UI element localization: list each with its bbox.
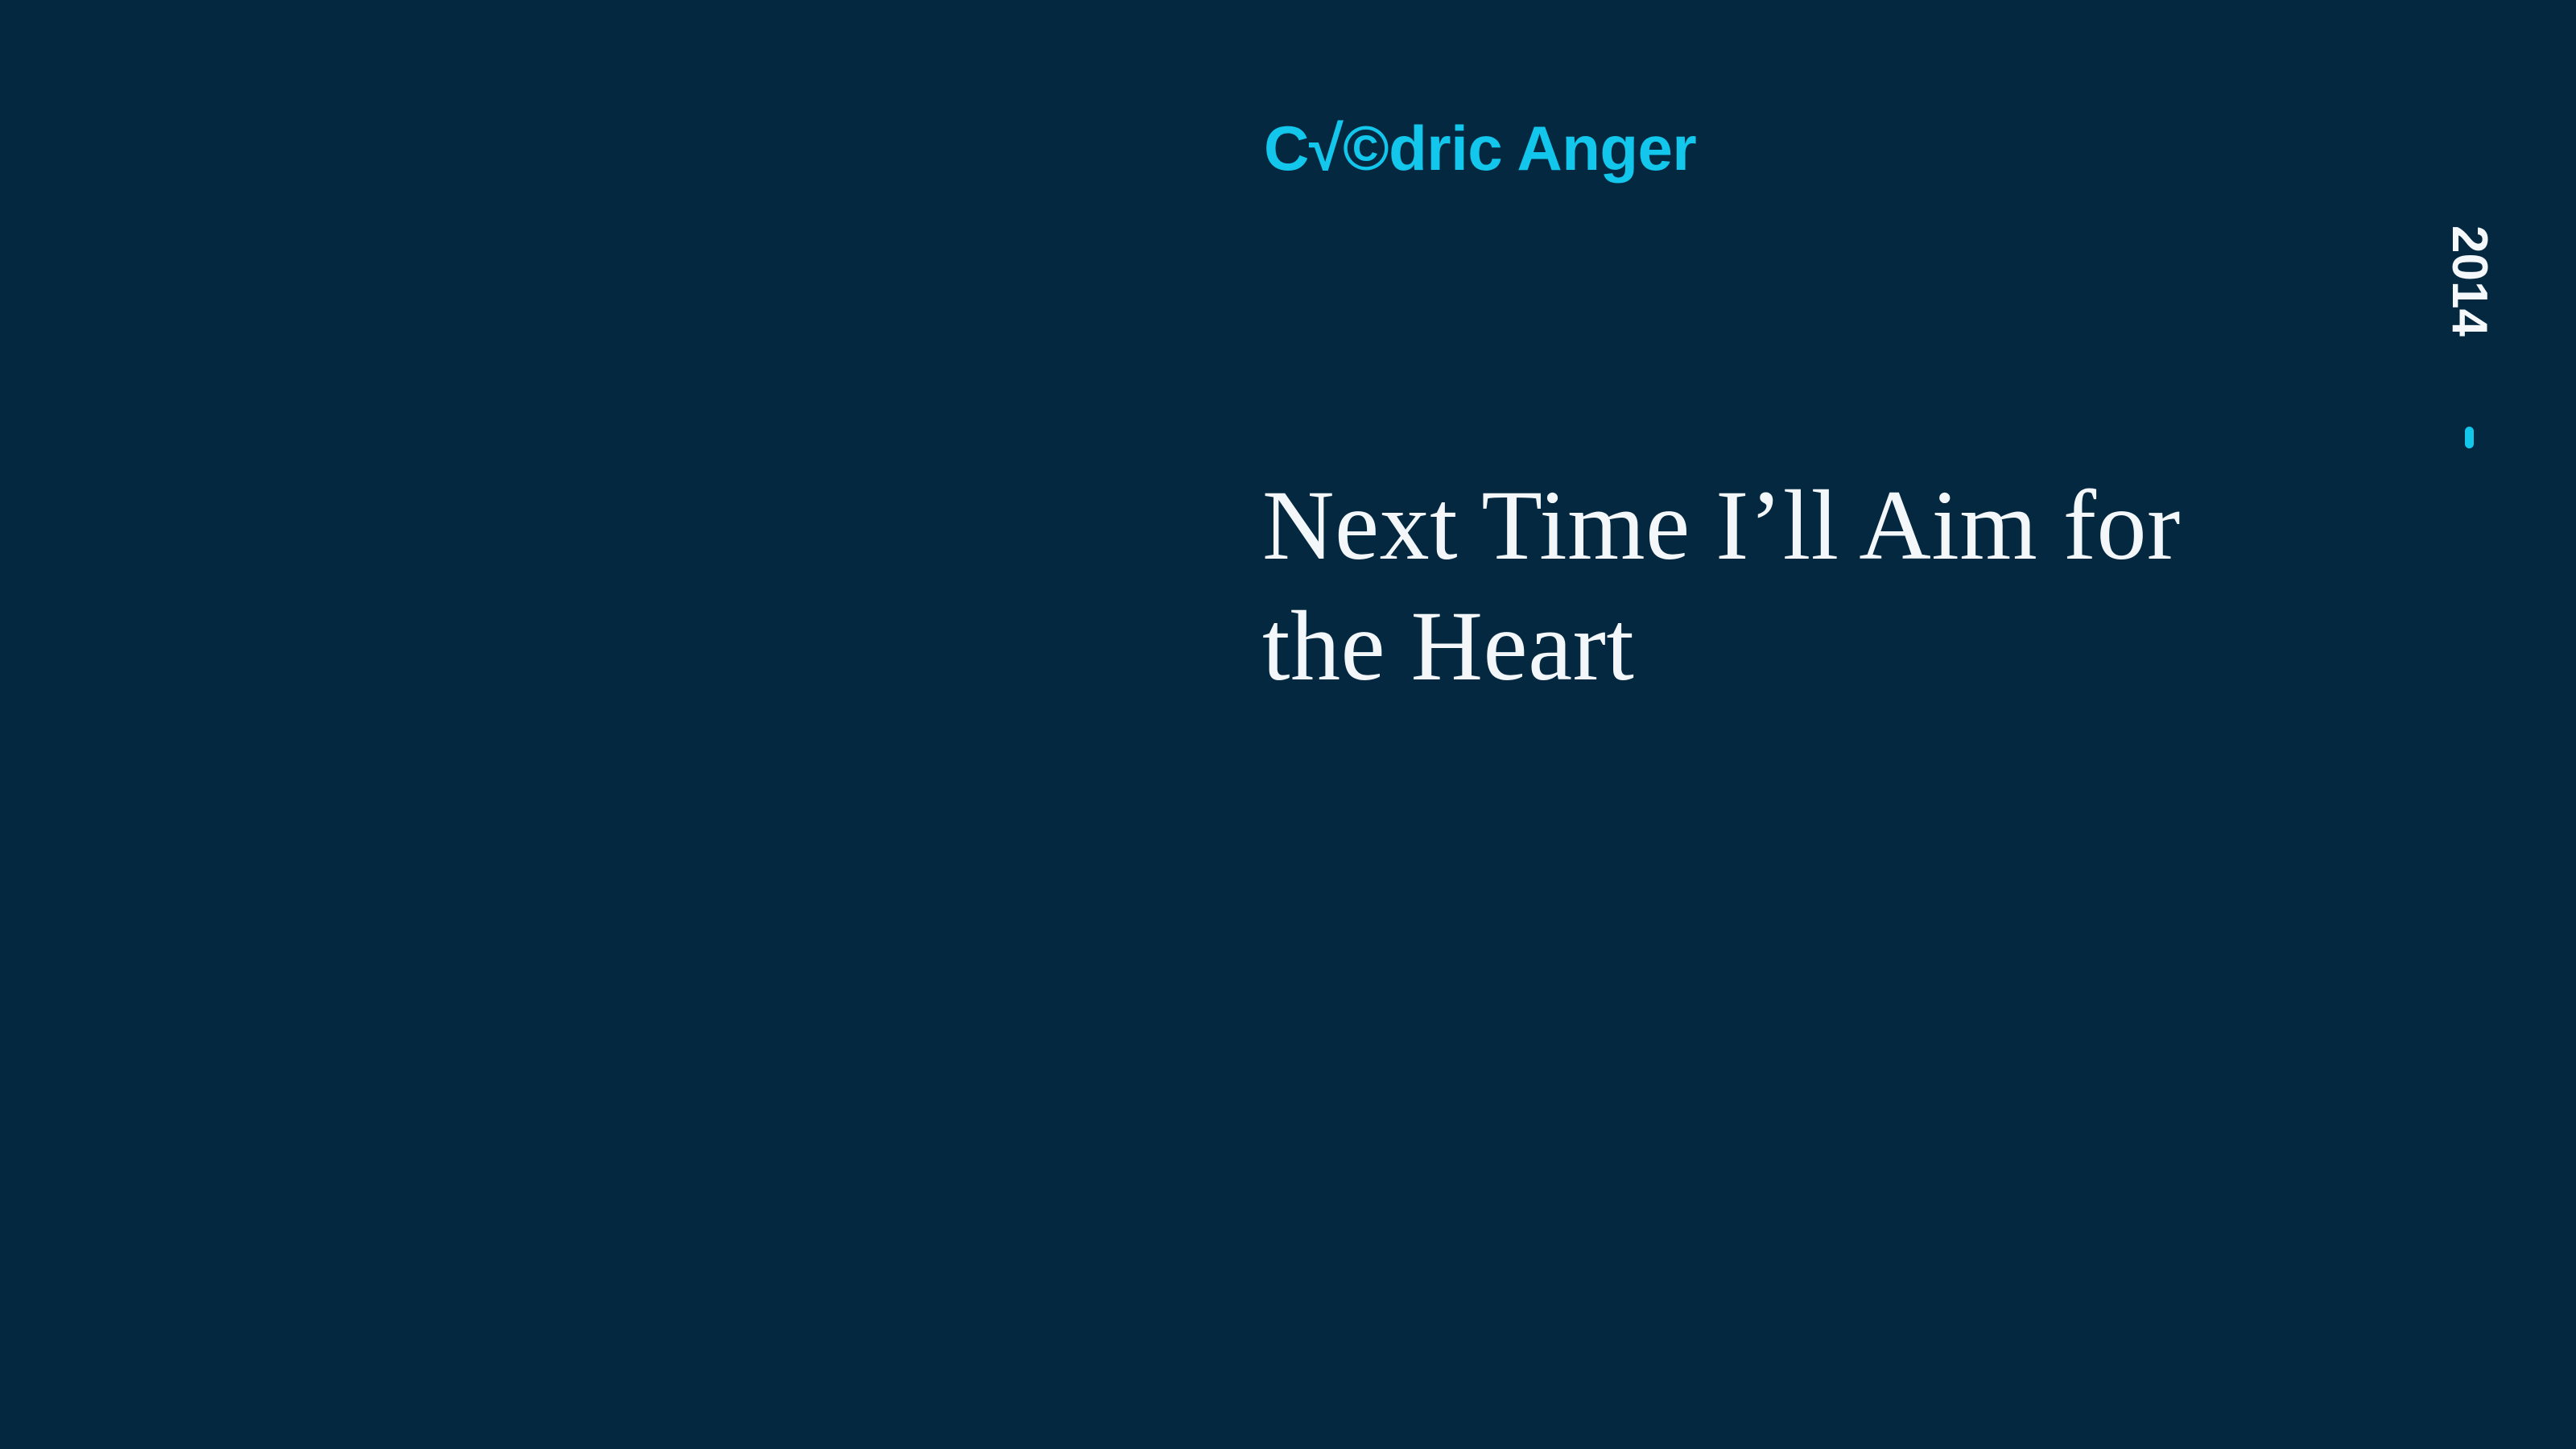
artist-credit: C√©dric Anger: [1264, 117, 1696, 180]
page-title: Next Time I’ll Aim for the Heart: [1262, 465, 2309, 707]
poster-canvas: C√©dric Anger Next Time I’ll Aim for the…: [0, 0, 2576, 1449]
separator-dash-icon: [2465, 427, 2474, 448]
year-label: 2014: [2444, 225, 2494, 336]
side-meta-column: 2014: [2441, 225, 2497, 448]
